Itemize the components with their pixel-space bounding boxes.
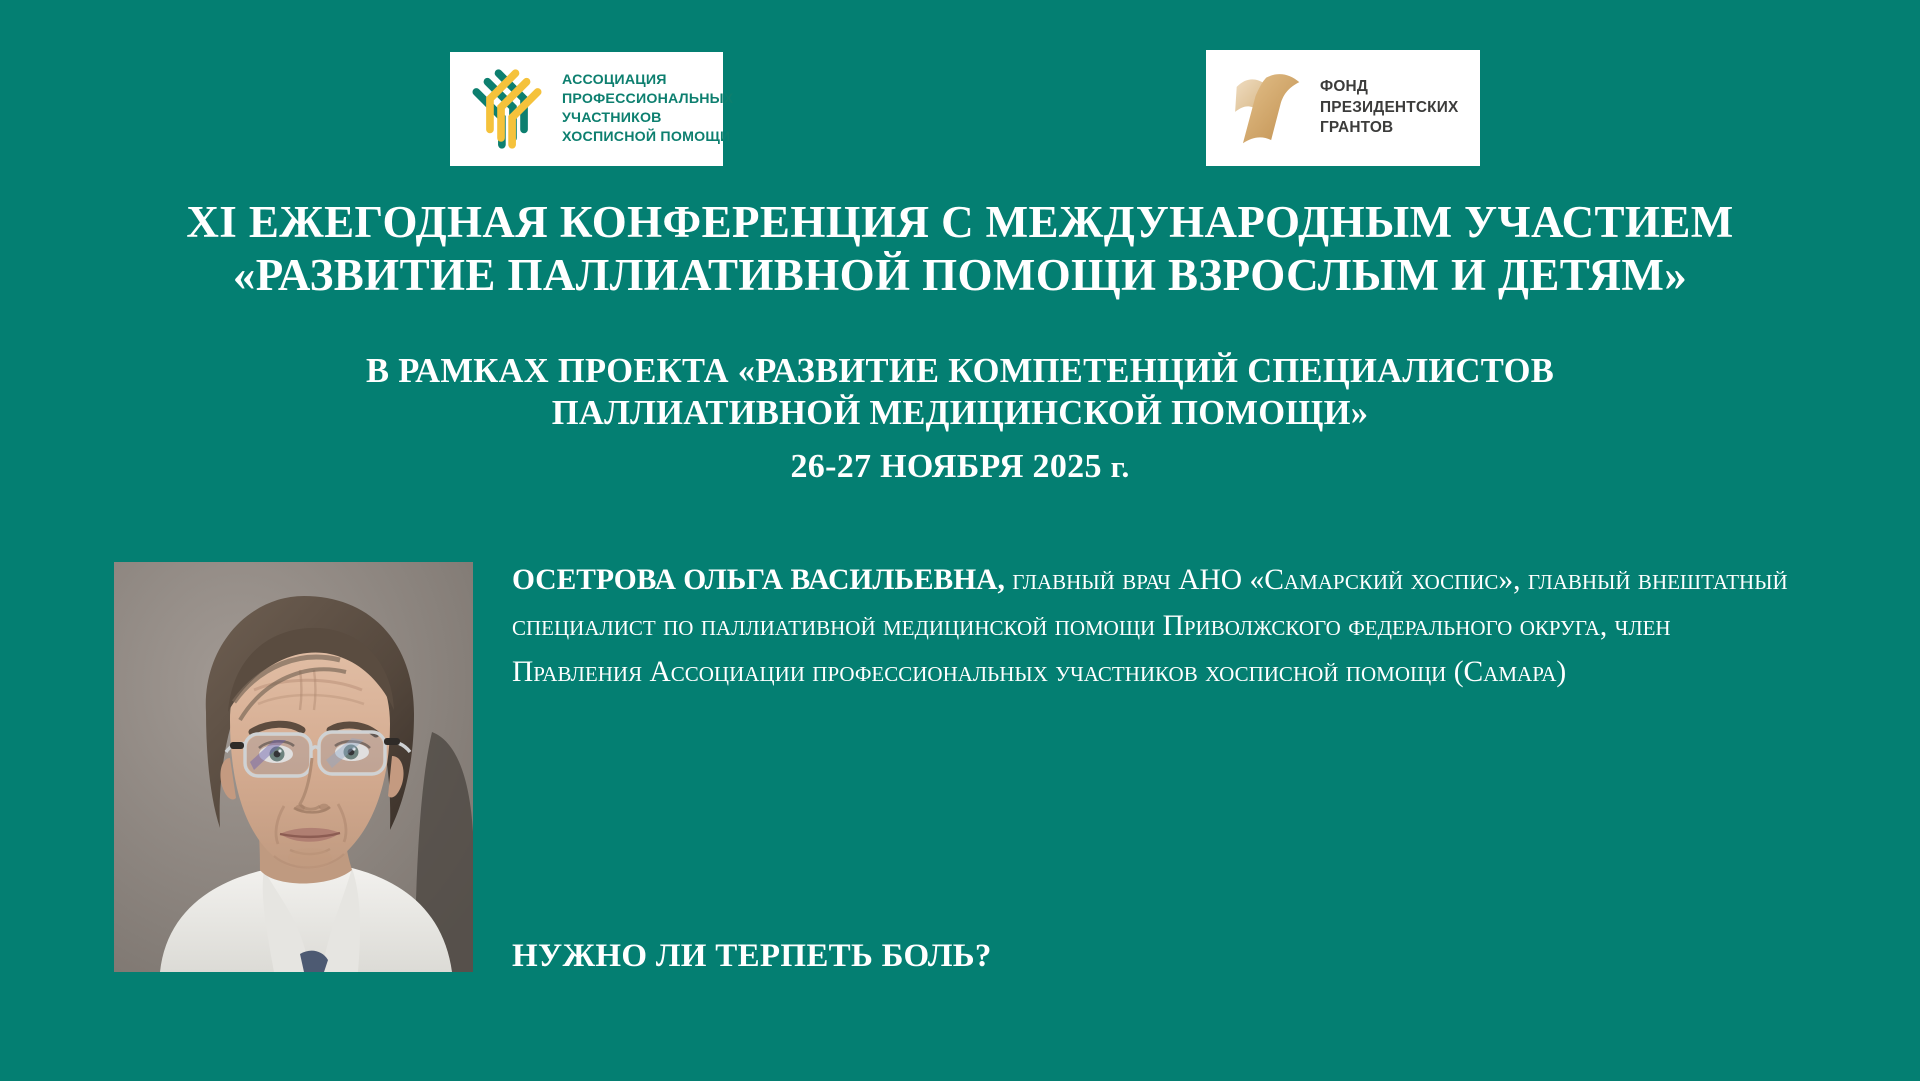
speaker-name: ОСЕТРОВА ОЛЬГА ВАСИЛЬЕВНА,	[512, 564, 1005, 596]
fond-logo-text: ФОНД ПРЕЗИДЕНТСКИХ ГРАНТОВ	[1320, 77, 1458, 138]
assoc-line-1: АССОЦИАЦИЯ	[562, 71, 733, 90]
date-suffix: г.	[1111, 449, 1130, 484]
fond-line-3: ГРАНТОВ	[1320, 118, 1458, 138]
conference-title: XI ЕЖЕГОДНАЯ КОНФЕРЕНЦИЯ С МЕЖДУНАРОДНЫМ…	[0, 196, 1920, 302]
fond-line-2: ПРЕЗИДЕНТСКИХ	[1320, 98, 1458, 118]
assoc-line-3: УЧАСТНИКОВ	[562, 109, 733, 128]
subtitle-line-1: В РАМКАХ ПРОЕКТА «РАЗВИТИЕ КОМПЕТЕНЦИЙ С…	[0, 350, 1920, 392]
title-line-2: «РАЗВИТИЕ ПАЛЛИАТИВНОЙ ПОМОЩИ ВЗРОСЛЫМ И…	[0, 249, 1920, 302]
assoc-line-2: ПРОФЕССИОНАЛЬНЫХ	[562, 90, 733, 109]
assoc-line-4: ХОСПИСНОЙ ПОМОЩИ	[562, 128, 733, 147]
slide-canvas: АССОЦИАЦИЯ ПРОФЕССИОНАЛЬНЫХ УЧАСТНИКОВ Х…	[0, 0, 1920, 1081]
fond-line-1: ФОНД	[1320, 77, 1458, 97]
talk-title: НУЖНО ЛИ ТЕРПЕТЬ БОЛЬ?	[512, 938, 992, 975]
conference-date: 26-27 НОЯБРЯ 2025 г.	[0, 448, 1920, 486]
association-logo: АССОЦИАЦИЯ ПРОФЕССИОНАЛЬНЫХ УЧАСТНИКОВ Х…	[450, 52, 723, 166]
title-line-1: XI ЕЖЕГОДНАЯ КОНФЕРЕНЦИЯ С МЕЖДУНАРОДНЫМ…	[0, 196, 1920, 249]
speaker-bio: ОСЕТРОВА ОЛЬГА ВАСИЛЬЕВНА, главный врач …	[512, 557, 1792, 695]
subtitle-line-2: ПАЛЛИАТИВНОЙ МЕДИЦИНСКОЙ ПОМОЩИ»	[0, 392, 1920, 434]
presidential-grants-fund-logo: ФОНД ПРЕЗИДЕНТСКИХ ГРАНТОВ	[1206, 50, 1480, 166]
flag-ribbon-icon	[1232, 69, 1304, 147]
association-logo-text: АССОЦИАЦИЯ ПРОФЕССИОНАЛЬНЫХ УЧАСТНИКОВ Х…	[562, 71, 733, 147]
interlocking-hands-icon	[464, 63, 550, 155]
speaker-photo	[114, 562, 473, 972]
project-subtitle: В РАМКАХ ПРОЕКТА «РАЗВИТИЕ КОМПЕТЕНЦИЙ С…	[0, 350, 1920, 434]
date-main: 26-27 НОЯБРЯ 2025	[790, 448, 1101, 485]
